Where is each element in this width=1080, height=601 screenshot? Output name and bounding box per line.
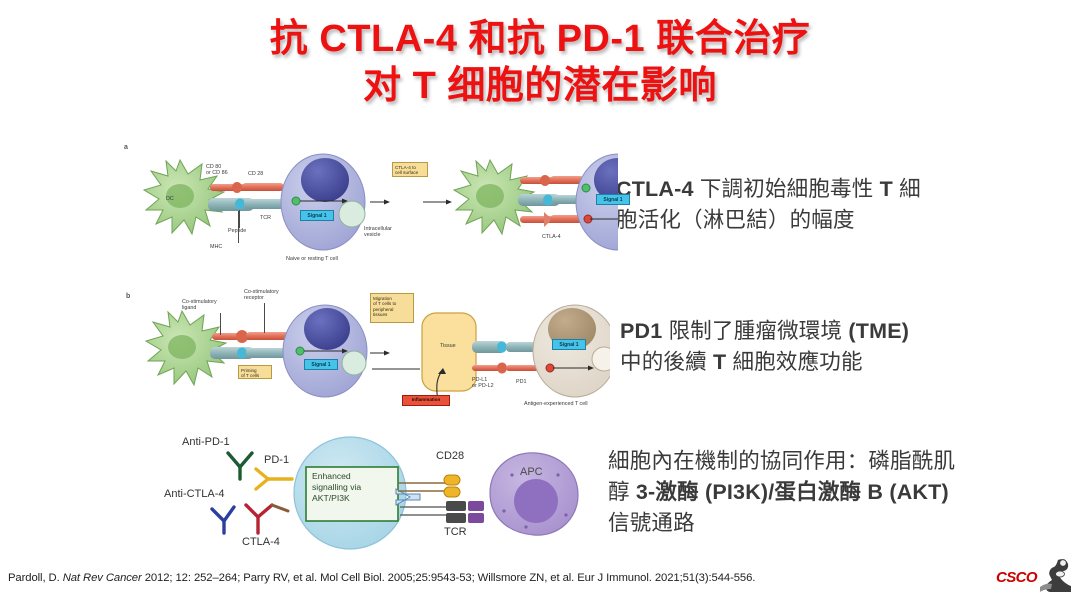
- content-row-synergy: Anti-PD-1 PD-1 Anti-CTLA-4 CTLA-4 CD28 T…: [0, 425, 1080, 560]
- caption-pd1: PD1 限制了腫瘤微環境 (TME) 中的後續 T 細胞效應功能: [620, 316, 909, 378]
- caption-b-rest: 限制了腫瘤微環境: [662, 319, 848, 343]
- footnote-journal: Nat Rev Cancer: [63, 572, 142, 584]
- label-tissue: Tissue: [440, 343, 456, 349]
- caption-a-rest: 下調初始細胞毒性: [694, 177, 880, 201]
- csco-logo: CSCO: [996, 556, 1074, 596]
- label-mhc: MHC: [210, 244, 222, 250]
- caption-c-line2-bold: 3-激酶 (PI3K)/蛋白激酶 B (AKT): [636, 480, 949, 504]
- label-costim-receptor: Co-stimulatory receptor: [244, 289, 288, 302]
- label-tcr-c: TCR: [444, 529, 467, 535]
- figure-panel-b: b Co-stimulatory ligand Co-stimulatory r…: [120, 283, 610, 411]
- label-pd1-b: PD1: [516, 379, 527, 385]
- label-cd80-cd86: CD 80 or CD 86: [206, 164, 236, 177]
- panel-letter-a: a: [124, 144, 128, 151]
- leader-costim-ligand: [220, 313, 221, 335]
- t-cell-naive: [281, 154, 365, 250]
- label-anti-pd1: Anti-PD-1: [182, 439, 230, 445]
- yellow-note-migration: Migration of T cells to peripheral tissu…: [370, 293, 414, 323]
- red-note-inflammation: Inflammation: [402, 395, 450, 406]
- caption-synergy: 細胞內在機制的協同作用：磷脂酰肌 醇 3-激酶 (PI3K)/蛋白激酶 B (A…: [608, 446, 955, 539]
- csco-logo-mark-icon: [1038, 556, 1072, 594]
- yellow-note-a: CTLA-4 to cell surface: [392, 162, 428, 177]
- leader-line-peptide: [239, 210, 240, 228]
- caption-a-bold-mid: T: [880, 177, 893, 201]
- label-ctla4-a: CTLA-4: [542, 234, 561, 240]
- label-enhanced-signalling: Enhanced signalling via AKT/PI3K: [312, 471, 361, 504]
- content-row-pd1: b Co-stimulatory ligand Co-stimulatory r…: [0, 283, 1080, 411]
- footnote-part2: 2012; 12: 252–264; Parry RV, et al. Mol …: [142, 572, 756, 584]
- caption-ctla4: CTLA-4 下調初始細胞毒性 T 細 胞活化（淋巴結）的幅度: [616, 174, 921, 236]
- title-line-2: 对 T 细胞的潜在影响: [0, 63, 1080, 110]
- footnote-part1: Pardoll, D.: [8, 572, 63, 584]
- caption-b-line2-bold: T: [713, 350, 726, 374]
- receptor-ctla4-c: [246, 505, 272, 533]
- figure-a-svg: [118, 140, 618, 270]
- signal1-box-b: Signal 1: [304, 359, 338, 370]
- label-pd1-c: PD-1: [264, 457, 289, 463]
- caption-a-tail: 細: [893, 177, 921, 201]
- receptor-pd1-c: [256, 469, 292, 489]
- figure-panel-c: Anti-PD-1 PD-1 Anti-CTLA-4 CTLA-4 CD28 T…: [160, 425, 590, 560]
- receptor-ctla4-arm: [272, 505, 288, 511]
- t-cell-antigen-experienced: [533, 305, 610, 397]
- receptor-costim-b: [212, 330, 292, 343]
- label-apc: APC: [520, 469, 543, 475]
- page-title: 抗 CTLA-4 和抗 PD-1 联合治疗 对 T 细胞的潜在影响: [0, 16, 1080, 110]
- figure-panel-a: a DC CD 80 or CD 86 CD 28 TCR Peptide MH…: [118, 140, 618, 270]
- antibody-anti-ctla4: [212, 507, 234, 533]
- content-row-ctla4: a DC CD 80 or CD 86 CD 28 TCR Peptide MH…: [0, 140, 1080, 270]
- caption-b-bold-lead: PD1: [620, 319, 662, 343]
- receptor-tcr-c: [400, 501, 484, 523]
- label-antigen-tcell: Antigen-experienced T cell: [524, 401, 588, 407]
- label-tcr-a: TCR: [260, 215, 271, 221]
- caption-c-line3: 信號通路: [608, 508, 955, 539]
- leader-costim-receptor: [264, 303, 265, 333]
- title-line-1: 抗 CTLA-4 和抗 PD-1 联合治疗: [0, 16, 1080, 63]
- caption-b-line2a: 中的後續: [620, 350, 713, 374]
- receptor-mhc-tcr-b: [210, 347, 292, 359]
- antibody-anti-pd1: [228, 453, 252, 479]
- caption-c-line2a: 醇: [608, 480, 636, 504]
- caption-a-line2: 胞活化（淋巴結）的幅度: [616, 205, 921, 236]
- caption-b-bold-mid: (TME): [848, 319, 909, 343]
- caption-c-line1: 細胞內在機制的協同作用：磷脂酰肌: [608, 446, 955, 477]
- slide-canvas: 抗 CTLA-4 和抗 PD-1 联合治疗 对 T 细胞的潜在影响: [0, 0, 1080, 601]
- signal1-box-a: Signal 1: [300, 210, 334, 221]
- csco-logo-text: CSCO: [996, 569, 1037, 586]
- panel-letter-b: b: [126, 293, 130, 300]
- label-ctla4-c: CTLA-4: [242, 539, 280, 545]
- label-pdl1: PD-L1 or PD-L2: [472, 377, 498, 390]
- label-costim-ligand: Co-stimulatory ligand: [182, 299, 222, 312]
- label-cd28-a: CD 28: [248, 171, 263, 177]
- yellow-note-priming: Priming of T cells: [238, 365, 272, 379]
- receptor-pd-b: [472, 341, 540, 374]
- label-dc-a: DC: [166, 196, 174, 202]
- t-cell-primed: [283, 305, 367, 397]
- tissue-block: [422, 313, 476, 391]
- caption-b-line2b: 細胞效應功能: [726, 350, 862, 374]
- label-naive-tcell: Naive or resting T cell: [286, 256, 338, 262]
- signal1-box-b2: Signal 1: [552, 339, 586, 350]
- label-cd28-c: CD28: [436, 453, 464, 459]
- receptor-mhc-tcr: [208, 198, 292, 211]
- label-intracellular-vesicle: Intracellular vesicle: [364, 226, 398, 239]
- label-anti-ctla4: Anti-CTLA-4: [164, 491, 225, 497]
- signal1-box-a2: Signal 1: [596, 194, 630, 205]
- footnote-citation: Pardoll, D. Nat Rev Cancer 2012; 12: 252…: [8, 572, 958, 584]
